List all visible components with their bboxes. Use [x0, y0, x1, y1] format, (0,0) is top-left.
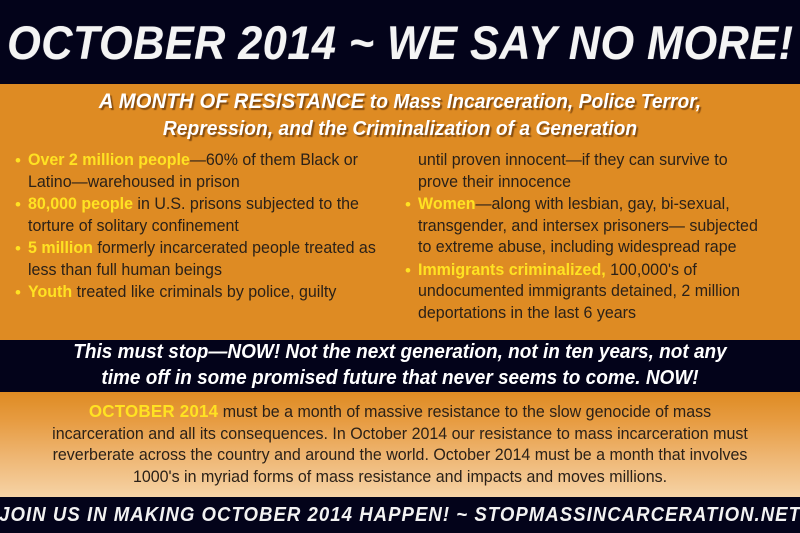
list-item-highlight: Immigrants criminalized,: [418, 261, 606, 279]
bullet-dot-icon: •: [14, 150, 28, 172]
list-item: • 80,000 people in U.S. prisons subjecte…: [14, 194, 389, 237]
list-item-highlight: 80,000 people: [28, 195, 133, 213]
list-item-text: Over 2 million people—60% of them Black …: [28, 150, 378, 193]
bullet-dot-icon: •: [404, 194, 418, 216]
bullet-dot-icon: •: [14, 238, 28, 260]
bullet-column-right: until proven innocent—if they can surviv…: [404, 150, 779, 325]
list-item: • Immigrants criminalized, 100,000's of …: [404, 260, 779, 325]
list-item-text: 5 million formerly incarcerated people t…: [28, 238, 378, 281]
poster-root: OCTOBER 2014 ~ WE SAY NO MORE! A MONTH O…: [0, 0, 800, 533]
subtitle-band: A MONTH OF RESISTANCE to Mass Incarcerat…: [0, 84, 800, 146]
bullet-dot-icon: •: [14, 282, 28, 304]
list-item-highlight: 5 million: [28, 239, 93, 257]
list-item: • Youth treated like criminals by police…: [14, 282, 389, 304]
bullet-dot-icon: •: [404, 260, 418, 282]
list-item: • 5 million formerly incarcerated people…: [14, 238, 389, 281]
paragraph-band: OCTOBER 2014 must be a month of massive …: [0, 392, 800, 497]
list-item-continuation: until proven innocent—if they can surviv…: [404, 150, 779, 193]
callout-text: This must stop—NOW! Not the next generat…: [39, 340, 761, 391]
list-item-body: treated like criminals by police, guilty: [72, 283, 336, 301]
subtitle-line1-rest: to Mass Incarceration, Police Terror,: [364, 90, 701, 113]
bullet-dot-icon: •: [14, 194, 28, 216]
paragraph-highlight: OCTOBER 2014: [89, 401, 218, 421]
callout-band: This must stop—NOW! Not the next generat…: [0, 340, 800, 392]
title-bar: OCTOBER 2014 ~ WE SAY NO MORE!: [0, 0, 800, 84]
paragraph-text: OCTOBER 2014 must be a month of massive …: [51, 401, 749, 488]
list-item-body: until proven innocent—if they can surviv…: [418, 151, 728, 191]
list-item-text: Women—along with lesbian, gay, bi-sexual…: [418, 194, 768, 259]
callout-line1: This must stop—NOW! Not the next generat…: [73, 341, 726, 363]
list-item-text: until proven innocent—if they can surviv…: [418, 150, 768, 193]
poster-subtitle: A MONTH OF RESISTANCE to Mass Incarcerat…: [71, 88, 729, 142]
subtitle-line2: Repression, and the Criminalization of a…: [163, 117, 637, 140]
footer-band: JOIN US IN MAKING OCTOBER 2014 HAPPEN! ~…: [0, 497, 800, 533]
footer-call-to-action: JOIN US IN MAKING OCTOBER 2014 HAPPEN! ~…: [0, 504, 800, 527]
list-item: • Over 2 million people—60% of them Blac…: [14, 150, 389, 193]
callout-line2: time off in some promised future that ne…: [101, 367, 698, 389]
list-item-highlight: Over 2 million people: [28, 151, 190, 169]
bullet-column-left: • Over 2 million people—60% of them Blac…: [14, 150, 389, 305]
list-item-text: Immigrants criminalized, 100,000's of un…: [418, 260, 768, 325]
list-item-text: Youth treated like criminals by police, …: [28, 282, 378, 304]
bullets-band: • Over 2 million people—60% of them Blac…: [0, 146, 800, 340]
list-item-text: 80,000 people in U.S. prisons subjected …: [28, 194, 378, 237]
list-item-highlight: Youth: [28, 283, 72, 301]
poster-title: OCTOBER 2014 ~ WE SAY NO MORE!: [7, 19, 793, 66]
list-item-highlight: Women: [418, 195, 476, 213]
subtitle-line1-caps: A MONTH OF RESISTANCE: [99, 89, 365, 113]
list-item: • Women—along with lesbian, gay, bi-sexu…: [404, 194, 779, 259]
